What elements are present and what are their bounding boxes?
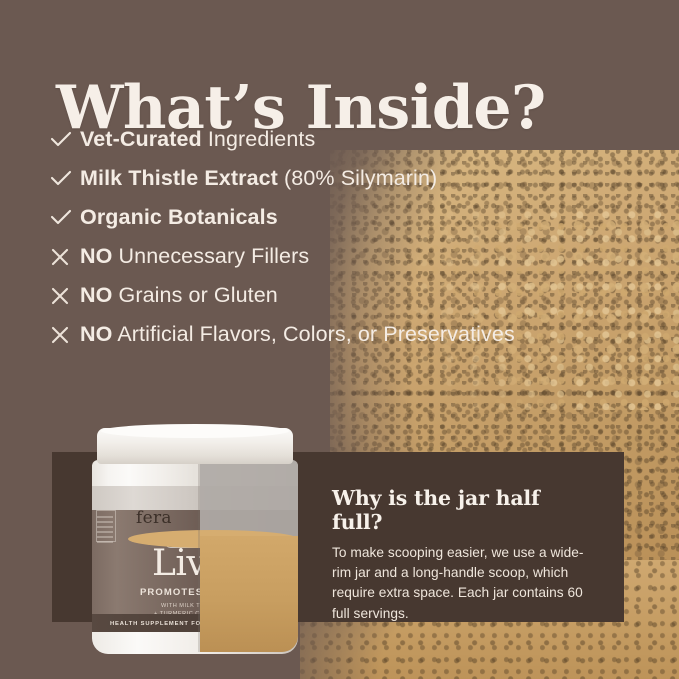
benefits-list: Vet-Curated Ingredients Milk Thistle Ext… (50, 126, 550, 360)
list-item-text: NO Grains or Gluten (80, 282, 278, 310)
jar-brand-name: fera (136, 508, 172, 528)
list-item: Organic Botanicals (50, 204, 550, 232)
list-item: Vet-Curated Ingredients (50, 126, 550, 154)
check-icon (50, 165, 80, 188)
list-item-text: NO Artificial Flavors, Colors, or Preser… (80, 321, 515, 349)
list-item-text: Milk Thistle Extract (80% Silymarin) (80, 165, 437, 193)
check-icon (50, 126, 80, 149)
list-item-text: Vet-Curated Ingredients (80, 126, 315, 154)
info-card-title: Why is the jar half full? (332, 487, 594, 534)
list-item-rest: Unnecessary Fillers (112, 244, 309, 268)
list-item-bold: NO (80, 283, 112, 307)
jar-lid-top (101, 424, 289, 438)
cross-icon (50, 243, 80, 266)
list-item: NO Artificial Flavors, Colors, or Preser… (50, 321, 550, 349)
list-item: NO Grains or Gluten (50, 282, 550, 310)
list-item-rest: Grains or Gluten (112, 283, 277, 307)
list-item-text: Organic Botanicals (80, 204, 278, 232)
cross-icon (50, 282, 80, 305)
list-item: Milk Thistle Extract (80% Silymarin) (50, 165, 550, 193)
list-item-bold: NO (80, 244, 112, 268)
product-jar: fera POWDER Liver PROMOTES LIVER WITH MI… (90, 428, 300, 654)
jar-label-sidebars (97, 516, 113, 586)
list-item-bold: Milk Thistle Extract (80, 166, 278, 190)
info-card-body: Why is the jar half full? To make scoopi… (332, 487, 594, 624)
list-item-rest: Ingredients (202, 127, 316, 151)
list-item-bold: Organic Botanicals (80, 205, 278, 229)
jar-cutaway-edge (198, 460, 200, 652)
list-item-bold: Vet-Curated (80, 127, 202, 151)
list-item-bold: NO (80, 322, 112, 346)
cross-icon (50, 321, 80, 344)
check-icon (50, 204, 80, 227)
list-item-rest: Artificial Flavors, Colors, or Preservat… (112, 322, 514, 346)
list-item: NO Unnecessary Fillers (50, 243, 550, 271)
list-item-rest: (80% Silymarin) (278, 166, 437, 190)
info-card-text: To make scooping easier, we use a wide-r… (332, 543, 594, 624)
jar-powder-fill (200, 536, 298, 652)
infographic-canvas: What’s Inside? Vet-Curated Ingredients M… (0, 0, 679, 679)
list-item-text: NO Unnecessary Fillers (80, 243, 309, 271)
